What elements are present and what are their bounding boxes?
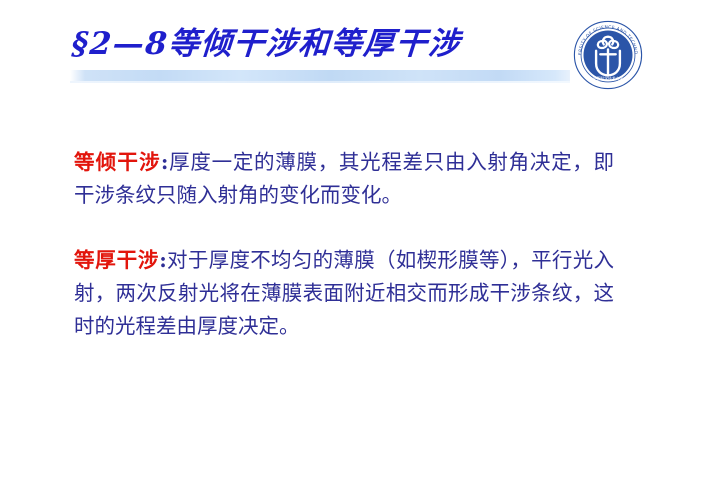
paragraph-equal-thickness: 等厚干涉:对于厚度不均匀的薄膜（如楔形膜等），平行光入射，两次反射光将在薄膜表面… <box>74 244 614 343</box>
title-block: §2—8等倾干涉和等厚干涉 <box>72 24 592 70</box>
term-label-equal-thickness: 等厚干涉 <box>74 248 159 272</box>
ustc-logo: UNIVERSITY OF SCIENCE AND TECHNOLOGY OF … <box>573 20 643 90</box>
term-label-equal-inclination: 等倾干涉 <box>74 150 161 174</box>
slide-canvas: §2—8等倾干涉和等厚干涉 UNIVERSITY OF SCIENCE AND … <box>0 0 702 496</box>
title-underline-bar-shadow <box>70 81 570 83</box>
page-title: §2—8等倾干涉和等厚干涉 <box>71 24 594 64</box>
term-colon-2: : <box>159 248 167 272</box>
paragraph-equal-inclination: 等倾干涉:厚度一定的薄膜，其光程差只由入射角决定，即干涉条纹只随入射角的变化而变… <box>74 146 614 212</box>
svg-text:中国科学技术大学: 中国科学技术大学 <box>593 76 623 81</box>
title-underline-bar <box>70 70 570 81</box>
body-text-container: 等倾干涉:厚度一定的薄膜，其光程差只由入射角决定，即干涉条纹只随入射角的变化而变… <box>74 146 614 343</box>
